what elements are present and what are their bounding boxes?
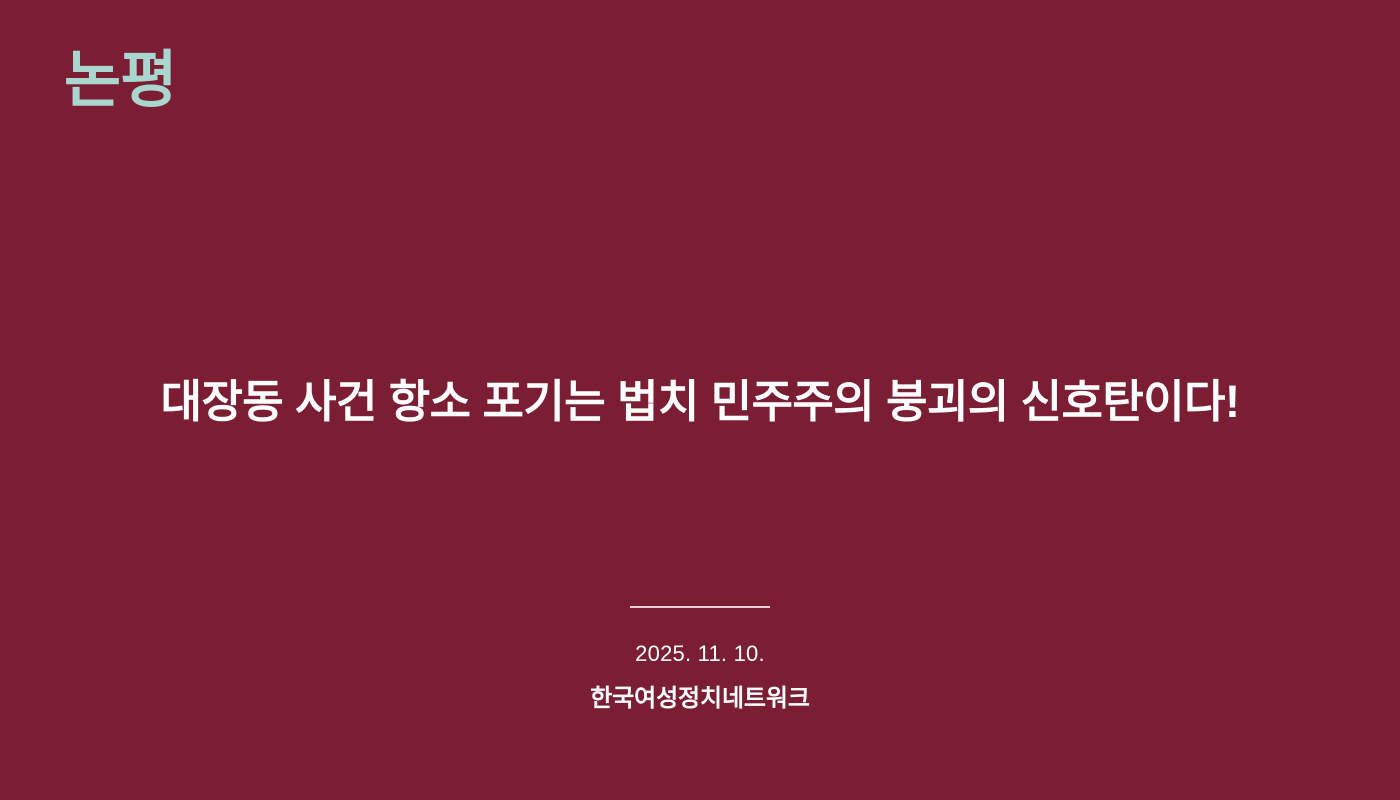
organization-name: 한국여성정치네트워크: [0, 683, 1400, 714]
headline-container: 대장동 사건 항소 포기는 법치 민주주의 붕괴의 신호탄이다!: [0, 372, 1400, 433]
page-title: 대장동 사건 항소 포기는 법치 민주주의 붕괴의 신호탄이다!: [40, 372, 1360, 433]
footer-block: 2025. 11. 10. 한국여성정치네트워크: [0, 606, 1400, 714]
publication-type-logo: 논평: [64, 48, 177, 113]
divider-rule: [630, 606, 770, 608]
statement-slide: 논평 대장동 사건 항소 포기는 법치 민주주의 붕괴의 신호탄이다! 2025…: [0, 0, 1400, 800]
publication-date: 2025. 11. 10.: [0, 640, 1400, 669]
